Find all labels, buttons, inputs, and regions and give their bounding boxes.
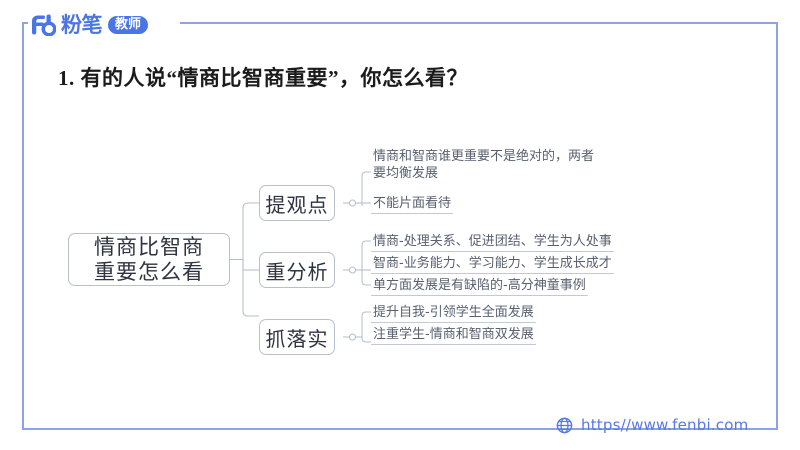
- root-line-2: 重要怎么看: [94, 260, 204, 284]
- footer-link[interactable]: https//www.fenbi.com: [556, 416, 748, 434]
- mindmap-leaf[interactable]: 不能片面看待: [371, 195, 453, 214]
- mindmap-leaf[interactable]: 提升自我-引领学生全面发展: [371, 304, 536, 323]
- leaf-line-1: 情商和智商谁更重要不是绝对的，两者: [373, 149, 594, 164]
- slide-page: 粉笔 教师 1. 有的人说“情商比智商重要”，你怎么看？: [0, 0, 800, 450]
- mindmap-leaf[interactable]: 智商-业务能力、学习能力、学生成长成才: [371, 255, 614, 274]
- mindmap-leaf[interactable]: 情商-处理关系、促进团结、学生为人处事: [371, 233, 614, 252]
- mindmap-root-node[interactable]: 情商比智商 重要怎么看: [68, 233, 230, 286]
- globe-icon: [556, 417, 573, 434]
- mindmap-leaf[interactable]: 单方面发展是有缺陷的-高分神童事例: [371, 277, 588, 296]
- mindmap: 情商比智商 重要怎么看 提观点 重分析 抓落实 情商和智商谁更重要不是绝对的，两…: [0, 0, 800, 450]
- mindmap-leaf[interactable]: 注重学生-情商和智商双发展: [371, 326, 536, 345]
- leaf-line-2: 要均衡发展: [373, 165, 661, 182]
- mindmap-branch-node-3[interactable]: 抓落实: [259, 319, 335, 355]
- mindmap-branch-node-2[interactable]: 重分析: [259, 252, 335, 288]
- footer-url-text: https//www.fenbi.com: [581, 416, 748, 434]
- mindmap-connectors: [0, 0, 800, 450]
- mindmap-leaf[interactable]: 情商和智商谁更重要不是绝对的，两者 要均衡发展: [371, 148, 663, 183]
- root-line-1: 情商比智商: [94, 235, 204, 259]
- mindmap-branch-node-1[interactable]: 提观点: [259, 185, 335, 221]
